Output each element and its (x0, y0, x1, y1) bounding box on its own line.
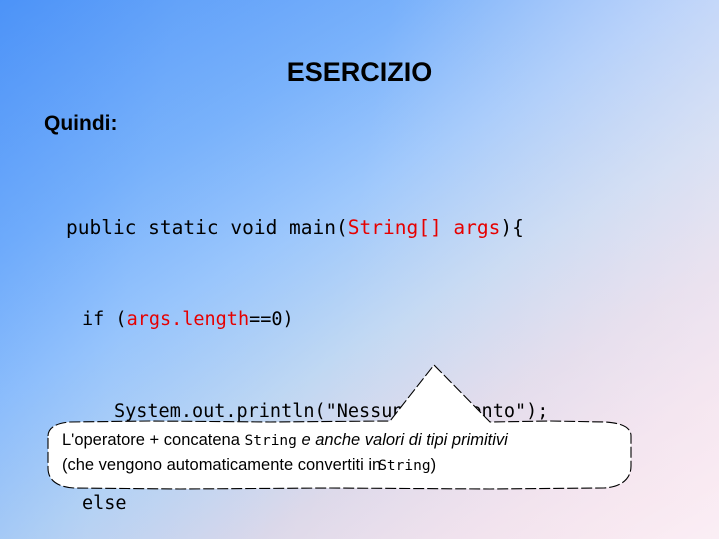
callout-text-plain: L'operatore + concatena (62, 431, 245, 449)
slide-canvas: ESERCIZIO Quindi: public static void mai… (0, 0, 719, 539)
code-token: ){ (500, 216, 523, 239)
code-token: ==0) (249, 309, 294, 330)
callout-text-code: String (245, 433, 297, 449)
callout-line-2: (che vengono automaticamente convertiti … (62, 453, 642, 478)
code-line: public static void main(String[] args){ (0, 213, 719, 242)
code-token: String[] args (348, 216, 501, 239)
code-line: if (args.length==0) (0, 305, 719, 334)
callout-text-italic: e anche valori di tipi primitivi (297, 431, 508, 449)
callout-text-plain: (che vengono automaticamente convertiti … (62, 456, 381, 474)
callout-text-code: String (378, 458, 430, 474)
code-token: public static void main( (66, 216, 348, 239)
page-title: ESERCIZIO (0, 57, 719, 87)
callout-annotation: L'operatore + concatena String e anche v… (30, 358, 655, 498)
callout-text: L'operatore + concatena String e anche v… (62, 428, 642, 478)
lead-label: Quindi: (44, 112, 117, 136)
callout-text-plain: ) (431, 456, 437, 474)
code-token: args.length (127, 309, 250, 330)
callout-line-1: L'operatore + concatena String e anche v… (62, 428, 642, 453)
code-token: if ( (82, 309, 127, 330)
